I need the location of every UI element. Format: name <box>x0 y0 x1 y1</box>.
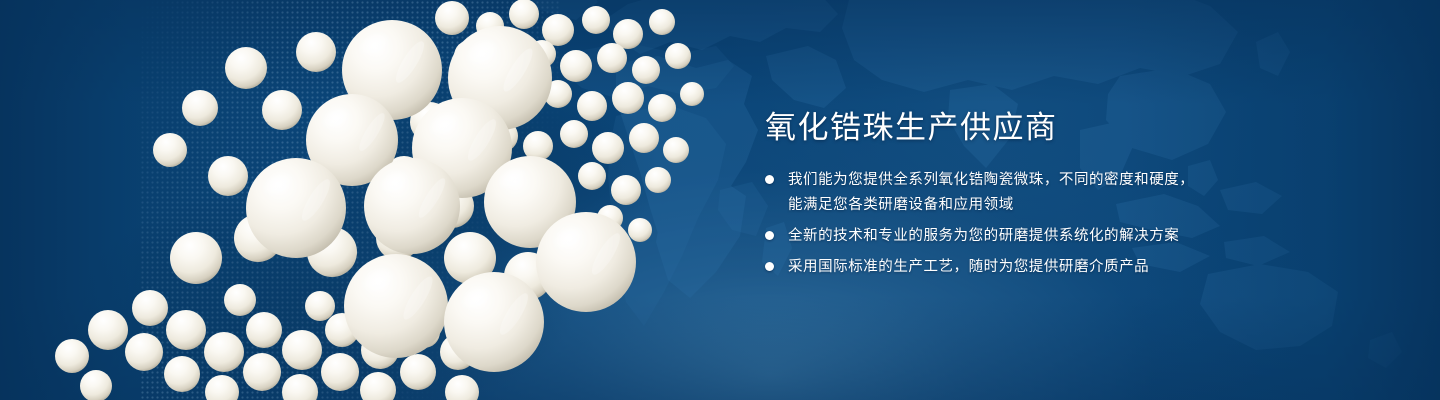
bullet-dot-icon <box>765 231 774 240</box>
bullet-dot-icon <box>765 262 774 271</box>
bullet-item-3: 采用国际标准的生产工艺，随时为您提供研磨介质产品 <box>765 255 1325 280</box>
banner-bullet-list: 我们能为您提供全系列氧化锆陶瓷微珠，不同的密度和硬度， 能满足您各类研磨设备和应… <box>765 168 1325 286</box>
bullet-item-2: 全新的技术和专业的服务为您的研磨提供系统化的解决方案 <box>765 224 1325 249</box>
bullet-text-1-line-2: 能满足您各类研磨设备和应用领域 <box>788 193 1194 218</box>
bullet-item-1: 我们能为您提供全系列氧化锆陶瓷微珠，不同的密度和硬度， 能满足您各类研磨设备和应… <box>765 168 1325 218</box>
banner-headline: 氧化锆珠生产供应商 <box>765 108 1058 148</box>
bullet-text-2: 全新的技术和专业的服务为您的研磨提供系统化的解决方案 <box>788 224 1179 249</box>
banner-copy: 氧化锆珠生产供应商 我们能为您提供全系列氧化锆陶瓷微珠，不同的密度和硬度， 能满… <box>765 0 1325 400</box>
hero-banner: 氧化锆珠生产供应商 我们能为您提供全系列氧化锆陶瓷微珠，不同的密度和硬度， 能满… <box>0 0 1440 400</box>
bullet-text-1: 我们能为您提供全系列氧化锆陶瓷微珠，不同的密度和硬度， 能满足您各类研磨设备和应… <box>788 168 1194 218</box>
bullet-dot-icon <box>765 175 774 184</box>
bullet-text-3: 采用国际标准的生产工艺，随时为您提供研磨介质产品 <box>788 255 1149 280</box>
bullet-text-1-line-1: 我们能为您提供全系列氧化锆陶瓷微珠，不同的密度和硬度， <box>788 172 1194 188</box>
